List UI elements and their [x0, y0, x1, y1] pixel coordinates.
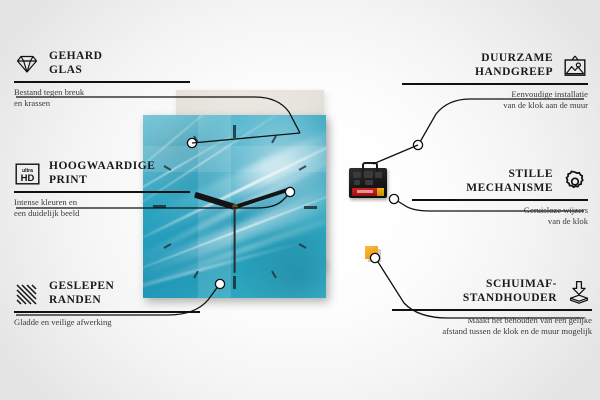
feature-subtitle-line1: Maakt het behouden van een gelijke — [468, 315, 592, 325]
feature-title-line1: SCHUIMAF- — [486, 278, 557, 290]
spacer-arrow-icon — [566, 280, 592, 304]
feature-stille-mechanisme[interactable]: STILLE MECHANISME Geruisloze wijzers van… — [412, 168, 588, 227]
feature-title-line1: HOOGWAARDIGE — [49, 160, 155, 172]
feature-divider — [402, 83, 588, 85]
feature-title-line2: MECHANISME — [466, 182, 553, 194]
feature-title-line1: DUURZAME — [481, 52, 553, 64]
infographic-stage: GEHARD GLAS Bestand tegen breuk en krass… — [0, 0, 600, 400]
ultra-hd-icon: ultra HD — [14, 162, 40, 186]
feature-title-line1: GEHARD — [49, 50, 102, 62]
feature-subtitle-line2: afstand tussen de klok en de muur mogeli… — [442, 326, 592, 336]
feature-subtitle-line1: Gladde en veilige afwerking — [14, 317, 112, 327]
feature-divider — [14, 191, 190, 193]
feature-gehard-glas[interactable]: GEHARD GLAS Bestand tegen breuk en krass… — [14, 50, 190, 109]
feature-title-line1: GESLEPEN — [49, 280, 114, 292]
feature-divider — [14, 311, 200, 313]
clock-second-hand — [234, 207, 236, 273]
feature-geslepen-randen[interactable]: GESLEPEN RANDEN Gladde en veilige afwerk… — [14, 280, 200, 328]
feature-title-line1: STILLE — [508, 168, 553, 180]
feature-divider — [14, 81, 190, 83]
gear-icon — [562, 170, 588, 194]
feature-subtitle-line2: een duidelijk beeld — [14, 208, 79, 218]
battery — [352, 188, 384, 196]
feature-subtitle-line2: en krassen — [14, 98, 50, 108]
feature-subtitle-line2: van de klok aan de muur — [503, 100, 588, 110]
feature-duurzame-handgreep[interactable]: DUURZAME HANDGREEP Eenvoudige installati… — [402, 52, 588, 111]
feature-subtitle-line1: Intense kleuren en — [14, 197, 77, 207]
feature-title-line2: RANDEN — [49, 294, 101, 306]
diamond-icon — [14, 52, 40, 76]
feature-divider — [392, 309, 592, 311]
foam-spacer-block — [365, 246, 378, 259]
feature-schuimafstandhouder[interactable]: SCHUIMAF- STANDHOUDER Maakt het behouden… — [392, 278, 592, 337]
bevelled-edges-icon — [14, 282, 40, 306]
feature-title-line2: STANDHOUDER — [463, 292, 557, 304]
feature-subtitle-line1: Eenvoudige installatie — [511, 89, 588, 99]
feature-title-line2: GLAS — [49, 64, 82, 76]
feature-subtitle-line1: Bestand tegen breuk — [14, 87, 84, 97]
feature-subtitle-line1: Geruisloze wijzers — [524, 205, 588, 215]
feature-subtitle-line2: van de klok — [548, 216, 588, 226]
feature-title-line2: PRINT — [49, 174, 87, 186]
clock-center-pin — [232, 204, 238, 210]
svg-text:HD: HD — [20, 173, 34, 184]
feature-divider — [412, 199, 588, 201]
feature-title-line2: HANDGREEP — [475, 66, 553, 78]
quartz-mechanism — [349, 168, 387, 198]
picture-frame-icon — [562, 54, 588, 78]
feature-hoogwaardige-print[interactable]: ultra HD HOOGWAARDIGE PRINT Intense kleu… — [14, 160, 190, 219]
